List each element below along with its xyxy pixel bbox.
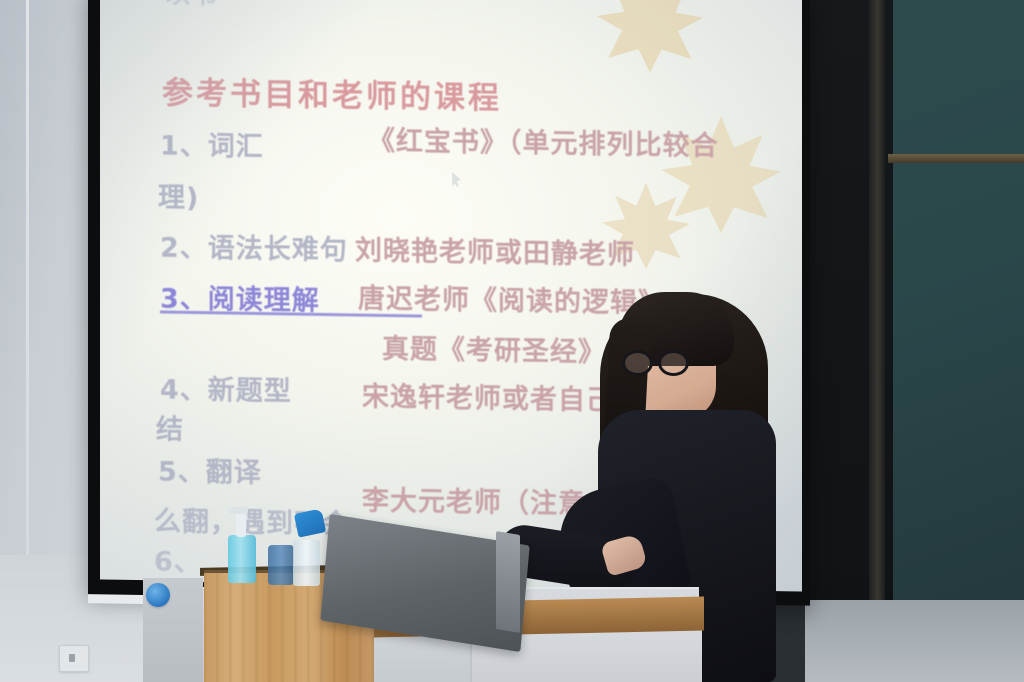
blue-round-sticker [146, 583, 170, 607]
classroom-scene: 以书 参考书目和老师的课程 1、词汇 理) 2、语法长难句 3、阅读理解 4、新… [0, 0, 1024, 682]
slide-row-detail-2: 刘晓艳老师或田静老师 [355, 228, 635, 271]
lens-left [622, 350, 653, 376]
monitor-bezel [496, 531, 520, 633]
blue-bottle[interactable] [268, 545, 294, 585]
mouse-pointer-icon [452, 172, 461, 187]
slide-row-detail-8: 李大元老师（注意 [362, 479, 586, 522]
green-chalkboard [893, 0, 1024, 607]
sanitizer-pump[interactable] [236, 510, 246, 537]
slide-row-num-6: 结 [156, 407, 184, 446]
slide-row-num-5: 4、新题型 [160, 367, 292, 408]
chalkboard-frame [869, 0, 885, 607]
hand-sanitizer-bottle[interactable] [228, 535, 256, 583]
eyeglasses-icon [622, 350, 698, 376]
slide-row-num-7: 5、翻译 [158, 449, 262, 490]
slide-row-num-10: 6、 [154, 539, 202, 579]
slide-row-num-0: 1、词汇 [160, 123, 264, 164]
chalk-rail [888, 154, 1024, 163]
maple-leaf-icon [592, 0, 708, 78]
slide-row-num-2: 2、语法长难句 [160, 225, 348, 267]
slide-row-num-1: 理) [158, 175, 199, 215]
slide-row-detail-0: 《红宝书》（单元排列比较合 [368, 119, 719, 164]
slide-partial-top-line: 以书 [164, 0, 218, 11]
slide-title: 参考书目和老师的课程 [162, 67, 502, 117]
lens-right [658, 350, 689, 376]
wall-outlet[interactable] [59, 645, 89, 672]
floor-strip [805, 600, 1024, 682]
spray-bottle[interactable] [293, 540, 320, 586]
glasses-bridge [652, 360, 661, 363]
